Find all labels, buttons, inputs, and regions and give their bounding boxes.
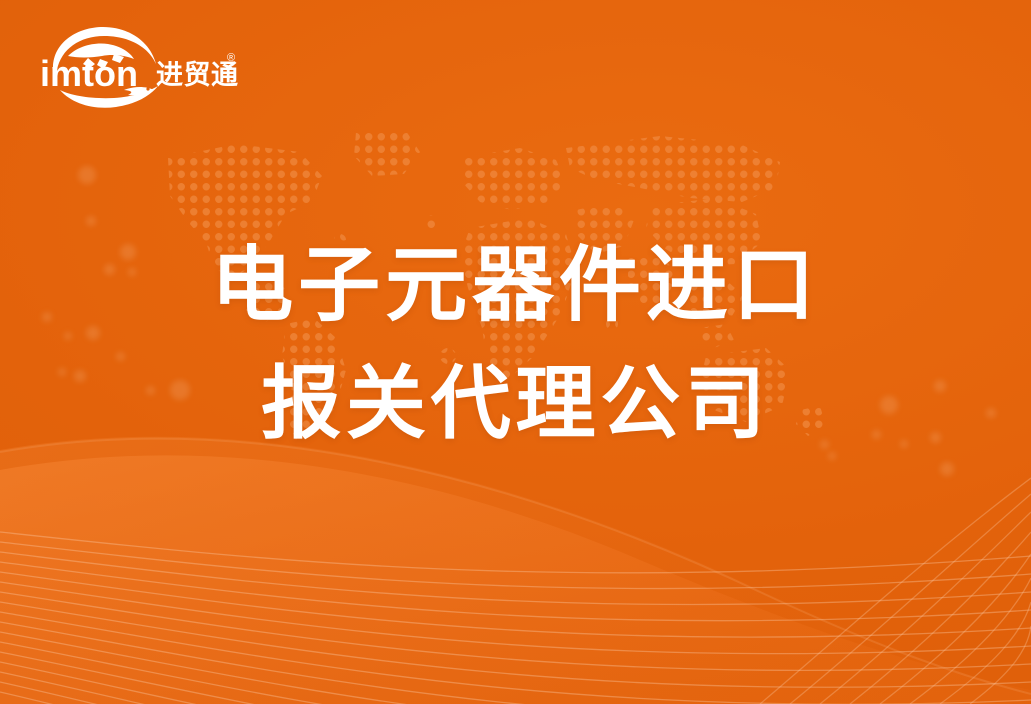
logo-latin-text: imton: [40, 53, 138, 94]
headline-line-2: 报关代理公司: [0, 357, 1031, 451]
fanning-thin-lines: [0, 444, 1031, 704]
promo-banner: imton 进贸通 ® 电子元器件进口 报关代理公司: [0, 0, 1031, 704]
headline-block: 电子元器件进口 报关代理公司: [0, 238, 1031, 451]
registered-trademark-icon: ®: [227, 52, 235, 64]
brand-logo[interactable]: imton 进贸通 ®: [38, 24, 238, 110]
headline-line-1: 电子元器件进口: [0, 238, 1031, 335]
logo-chinese-text: 进贸通: [156, 60, 238, 90]
